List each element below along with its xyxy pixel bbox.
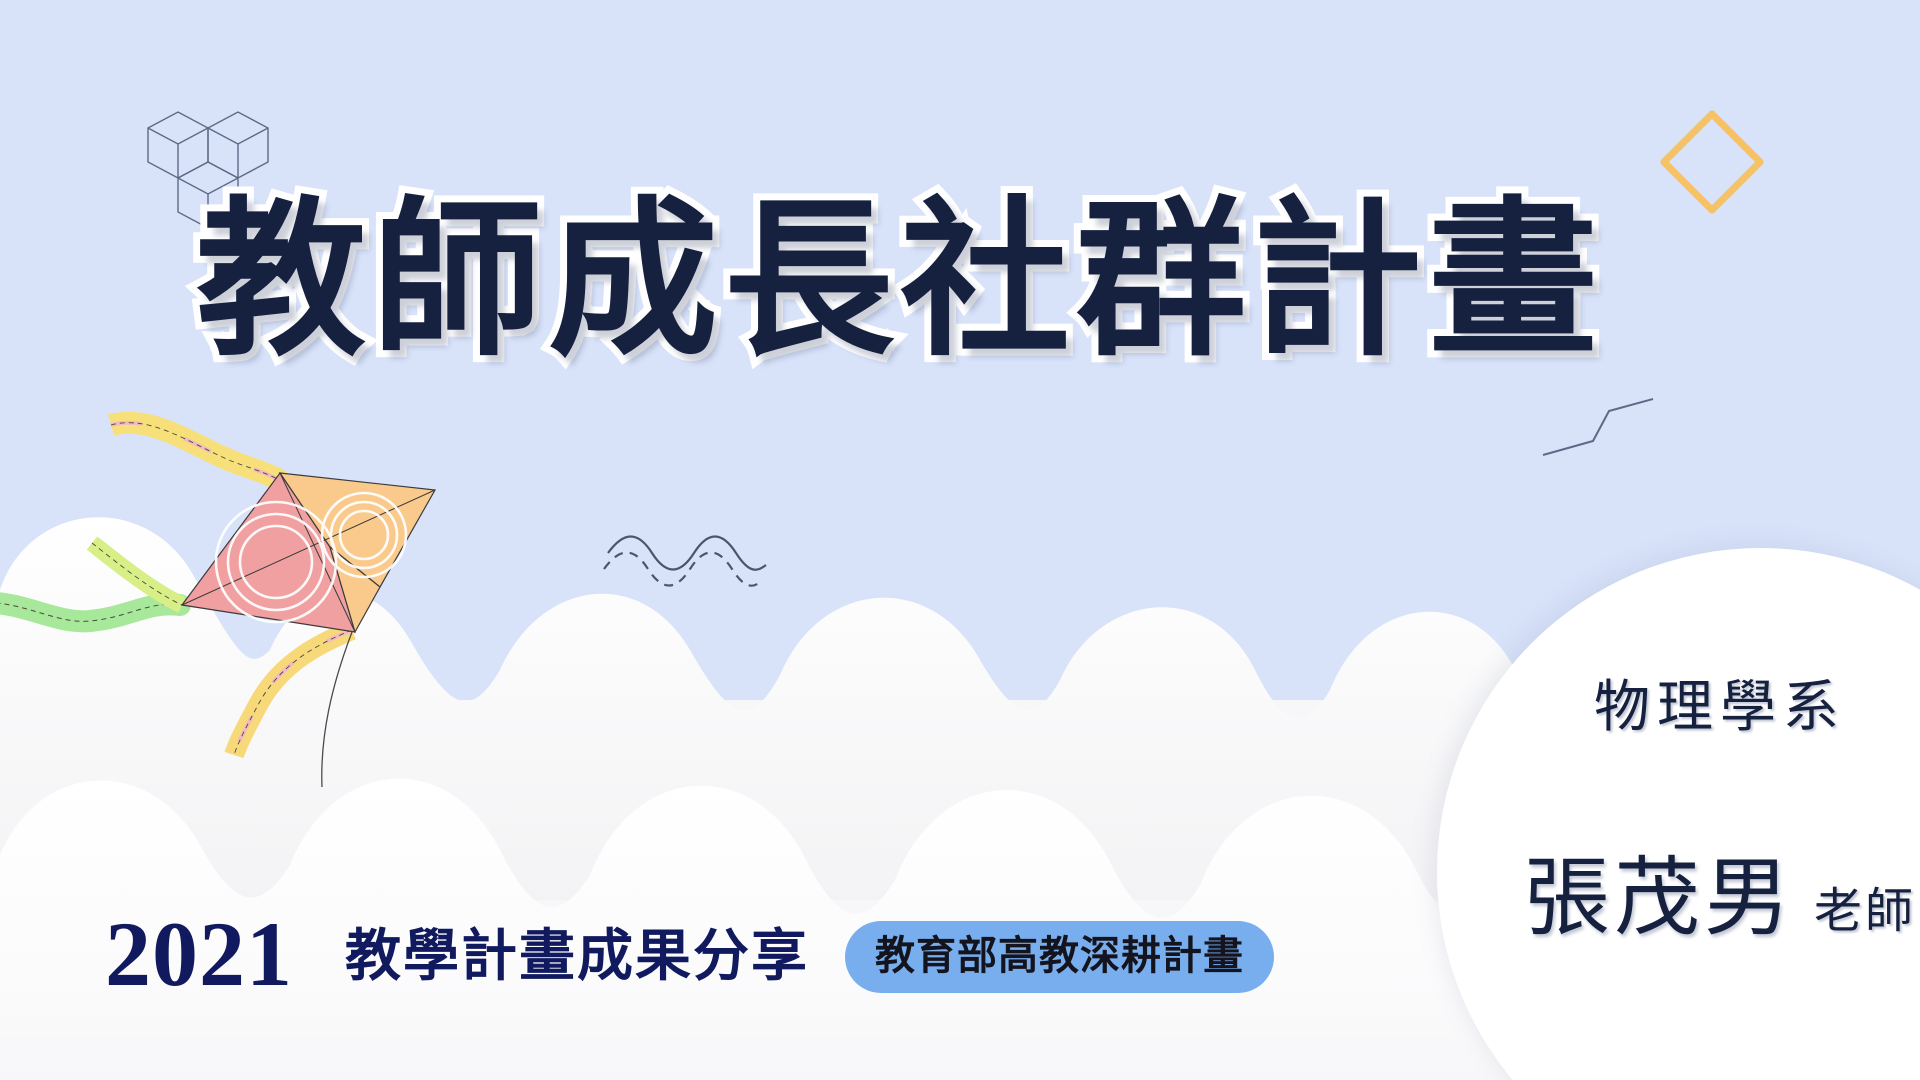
presentation-slide: 教師成長社群計畫 物理學系 張茂男 老師 2021 教學計畫成果分享 教育部高教… [0,0,1920,1080]
program-badge: 教育部高教深耕計畫 [845,921,1274,993]
year-label: 2021 [105,908,293,1000]
page-title: 教師成長社群計畫 [0,196,1800,366]
department-label: 物理學系 [1440,680,1920,736]
teacher-name-row: 張茂男 老師 [1430,855,1920,941]
kite-icon [0,395,450,795]
teacher-title: 老師 [1814,887,1916,935]
footer-bar: 2021 教學計畫成果分享 教育部高教深耕計畫 [105,908,1274,1000]
teacher-name: 張茂男 [1524,855,1794,941]
subtitle-label: 教學計畫成果分享 [345,929,809,985]
